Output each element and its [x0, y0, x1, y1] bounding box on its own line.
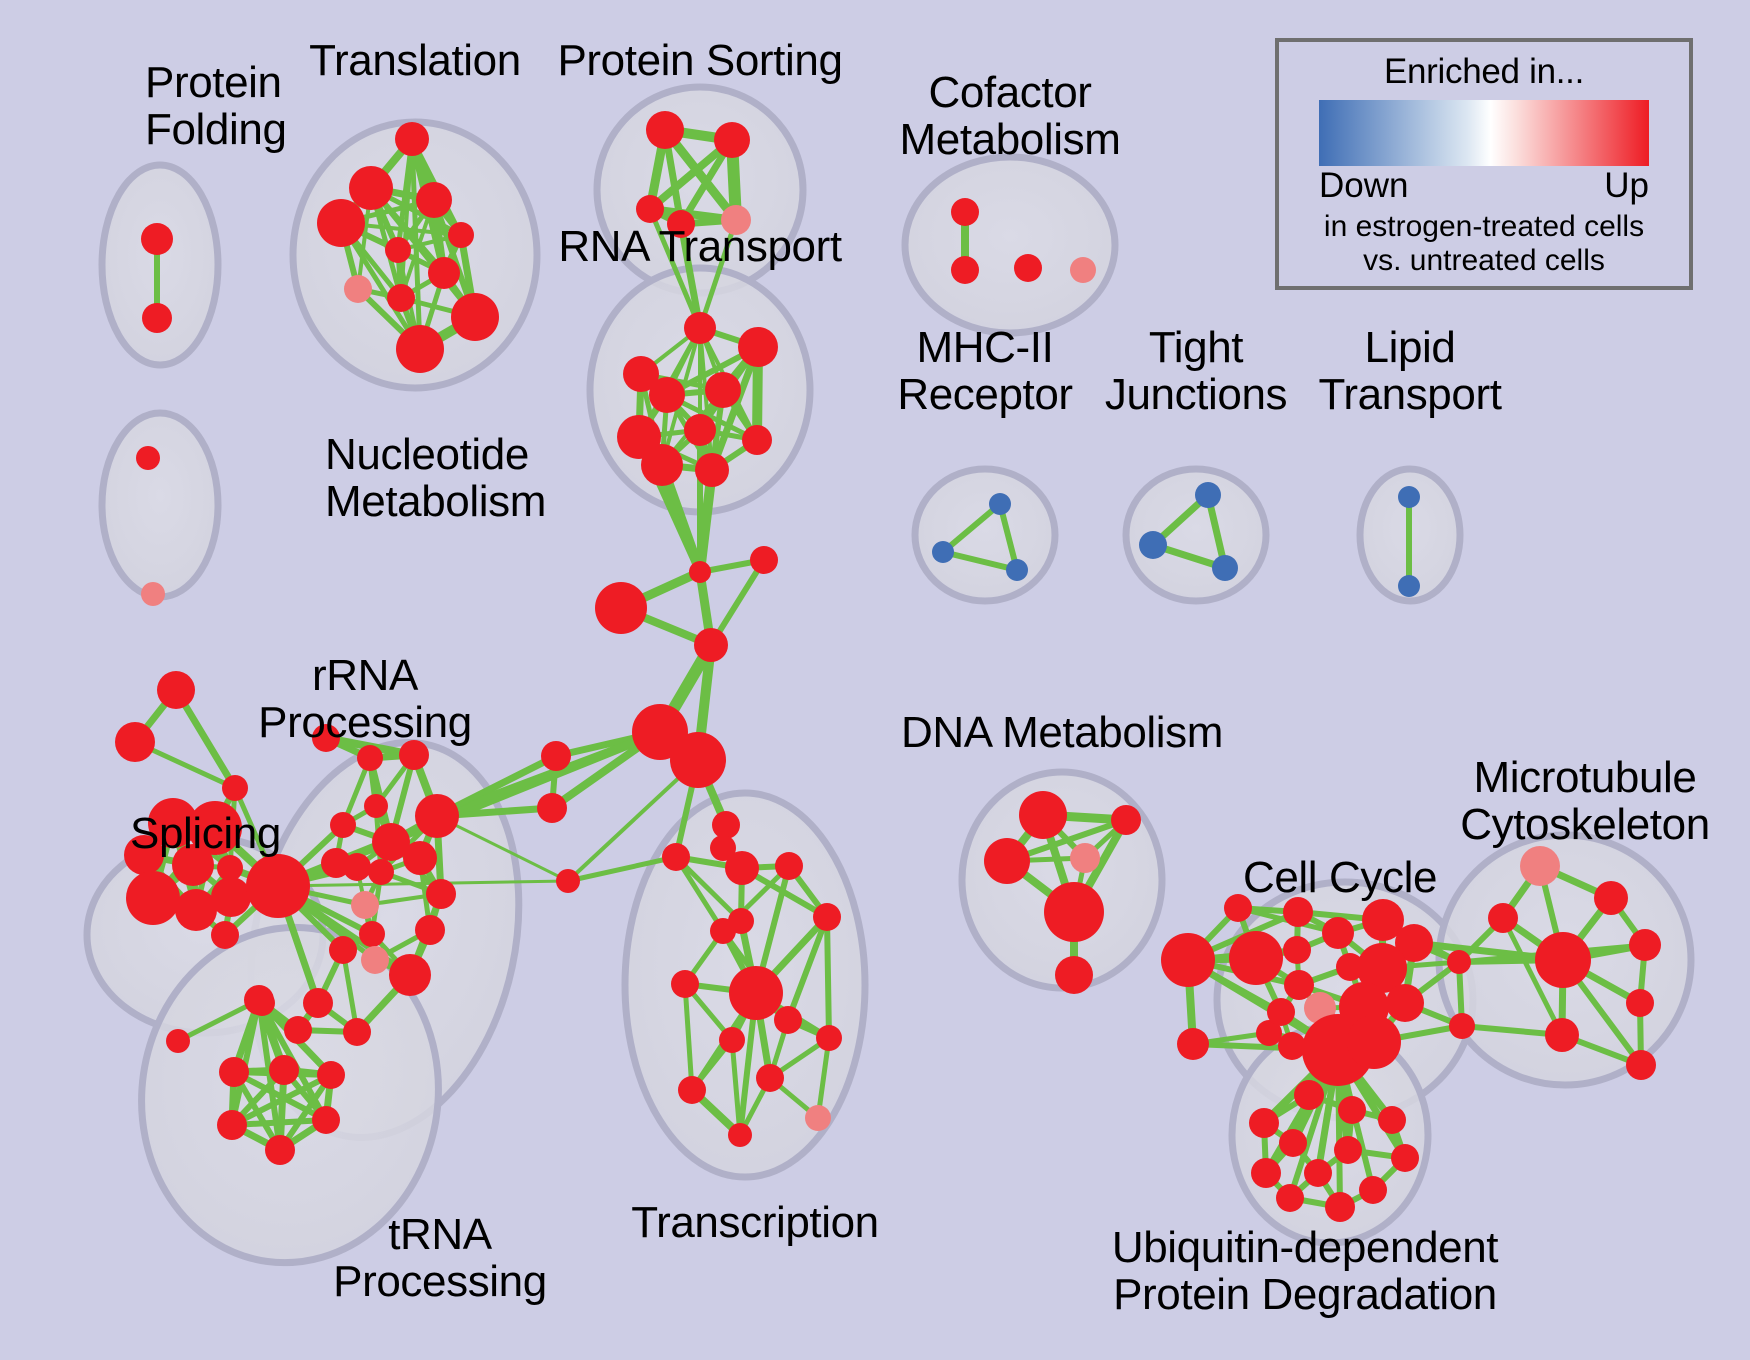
network-node[interactable] [1055, 956, 1093, 994]
figure-canvas: ProteinFoldingTranslationProtein Sorting… [0, 0, 1750, 1360]
cluster-label-line: Cytoskeleton [0, 802, 1750, 849]
cluster-label-line: rRNA [0, 653, 730, 700]
network-node[interactable] [774, 1006, 802, 1034]
network-node[interactable] [416, 182, 452, 218]
cluster-label-nucleotide-metabolism: NucleotideMetabolism [325, 432, 546, 525]
network-node[interactable] [349, 166, 393, 210]
network-node[interactable] [244, 985, 274, 1015]
network-node[interactable] [141, 582, 165, 606]
network-node[interactable] [1267, 998, 1295, 1026]
network-node[interactable] [219, 1057, 249, 1087]
network-node[interactable] [719, 1027, 745, 1053]
legend-caption: in estrogen-treated cells vs. untreated … [1279, 210, 1689, 277]
network-node[interactable] [684, 414, 716, 446]
network-node[interactable] [695, 453, 729, 487]
network-node[interactable] [329, 936, 357, 964]
network-node[interactable] [689, 561, 711, 583]
network-node[interactable] [344, 275, 372, 303]
cluster-label-line: Cell Cycle [0, 855, 1750, 902]
network-node[interactable] [166, 1029, 190, 1053]
network-node[interactable] [1161, 933, 1215, 987]
network-node[interactable] [1283, 936, 1311, 964]
network-node[interactable] [595, 582, 647, 634]
network-node[interactable] [742, 425, 772, 455]
network-node[interactable] [1177, 1028, 1209, 1060]
network-node[interactable] [750, 546, 778, 574]
network-node[interactable] [415, 915, 445, 945]
cluster-ellipse-mhc-ii-receptor [915, 469, 1055, 601]
network-edge [827, 917, 829, 1038]
network-node[interactable] [1294, 1080, 1324, 1110]
network-node[interactable] [284, 1016, 312, 1044]
network-node[interactable] [1006, 559, 1028, 581]
network-node[interactable] [359, 921, 385, 947]
network-node[interactable] [1284, 970, 1314, 1000]
cluster-label-line: Lipid [0, 325, 1750, 372]
cluster-label-line: Transport [0, 372, 1750, 419]
network-node[interactable] [343, 1018, 371, 1046]
network-node[interactable] [671, 970, 699, 998]
network-node[interactable] [1535, 932, 1591, 988]
network-node[interactable] [1391, 1144, 1419, 1172]
cluster-label-cell-cycle: Cell Cycle [0, 855, 1750, 902]
network-node[interactable] [1322, 917, 1354, 949]
network-node[interactable] [1229, 931, 1283, 985]
network-node[interactable] [710, 918, 736, 944]
network-node[interactable] [312, 1106, 340, 1134]
network-node[interactable] [217, 1110, 247, 1140]
cluster-label-lipid-transport: LipidTransport [0, 325, 1750, 418]
legend-endpoints: Down Up [1315, 166, 1653, 206]
network-node[interactable] [269, 1055, 299, 1085]
network-node[interactable] [1251, 1158, 1281, 1188]
network-node[interactable] [729, 966, 783, 1020]
network-node[interactable] [1629, 929, 1661, 961]
network-node[interactable] [989, 493, 1011, 515]
network-node[interactable] [1386, 984, 1424, 1022]
network-node[interactable] [1139, 531, 1167, 559]
network-node[interactable] [387, 284, 415, 312]
cluster-label-line: Protein Degradation [0, 1272, 1750, 1319]
cluster-label-dna-metabolism: DNA Metabolism [0, 710, 1750, 757]
cluster-label-line: DNA Metabolism [0, 710, 1750, 757]
network-node[interactable] [1398, 575, 1420, 597]
cluster-ellipse-nucleotide-metabolism [102, 413, 218, 597]
network-node[interactable] [1278, 1032, 1306, 1060]
cluster-label-line: Microtubule [0, 755, 1750, 802]
network-node[interactable] [1378, 1106, 1406, 1134]
network-node[interactable] [1545, 1018, 1579, 1052]
network-node[interactable] [1488, 903, 1518, 933]
network-node[interactable] [951, 198, 979, 226]
network-node[interactable] [1626, 989, 1654, 1017]
legend-low-label: Down [1319, 166, 1408, 206]
network-node[interactable] [265, 1135, 295, 1165]
network-node[interactable] [1347, 1015, 1401, 1069]
legend-caption-line-2: vs. untreated cells [1279, 244, 1689, 278]
network-node[interactable] [1249, 1108, 1279, 1138]
color-gradient-bar [1319, 100, 1649, 166]
network-node[interactable] [1626, 1050, 1656, 1080]
network-node[interactable] [211, 921, 239, 949]
network-node[interactable] [1195, 482, 1221, 508]
network-node[interactable] [361, 946, 389, 974]
network-node[interactable] [678, 1076, 706, 1104]
network-node[interactable] [1279, 1129, 1307, 1157]
network-node[interactable] [641, 444, 683, 486]
network-node[interactable] [1334, 1136, 1362, 1164]
network-node[interactable] [932, 541, 954, 563]
network-node[interactable] [1447, 950, 1471, 974]
cluster-label-ubiquitin-degradation: Ubiquitin-dependentProtein Degradation [0, 1225, 1750, 1318]
network-node[interactable] [1449, 1013, 1475, 1039]
network-node[interactable] [303, 988, 333, 1018]
network-node[interactable] [317, 1061, 345, 1089]
network-node[interactable] [136, 446, 160, 470]
network-node[interactable] [805, 1105, 831, 1131]
network-node[interactable] [728, 1123, 752, 1147]
network-node[interactable] [389, 954, 431, 996]
network-node[interactable] [756, 1064, 784, 1092]
cluster-label-line: Ubiquitin-dependent [0, 1225, 1750, 1272]
network-node[interactable] [1212, 555, 1238, 581]
network-node[interactable] [636, 195, 664, 223]
legend-high-label: Up [1604, 166, 1649, 206]
cluster-label-line: Metabolism [325, 479, 546, 526]
cluster-label-microtubule-cytoskeleton: MicrotubuleCytoskeleton [0, 755, 1750, 848]
network-node[interactable] [813, 903, 841, 931]
cluster-label-line: RNA Transport [0, 224, 1400, 271]
network-node[interactable] [1338, 1096, 1366, 1124]
cluster-label-rna-transport: RNA Transport [0, 224, 1400, 271]
network-node[interactable] [1304, 1159, 1332, 1187]
legend-title: Enriched in... [1279, 52, 1689, 92]
legend-caption-line-1: in estrogen-treated cells [1279, 210, 1689, 244]
legend-panel: Enriched in... Down Up in estrogen-treat… [1275, 38, 1693, 290]
network-node[interactable] [1398, 486, 1420, 508]
network-node[interactable] [816, 1025, 842, 1051]
cluster-label-line: Nucleotide [325, 432, 546, 479]
